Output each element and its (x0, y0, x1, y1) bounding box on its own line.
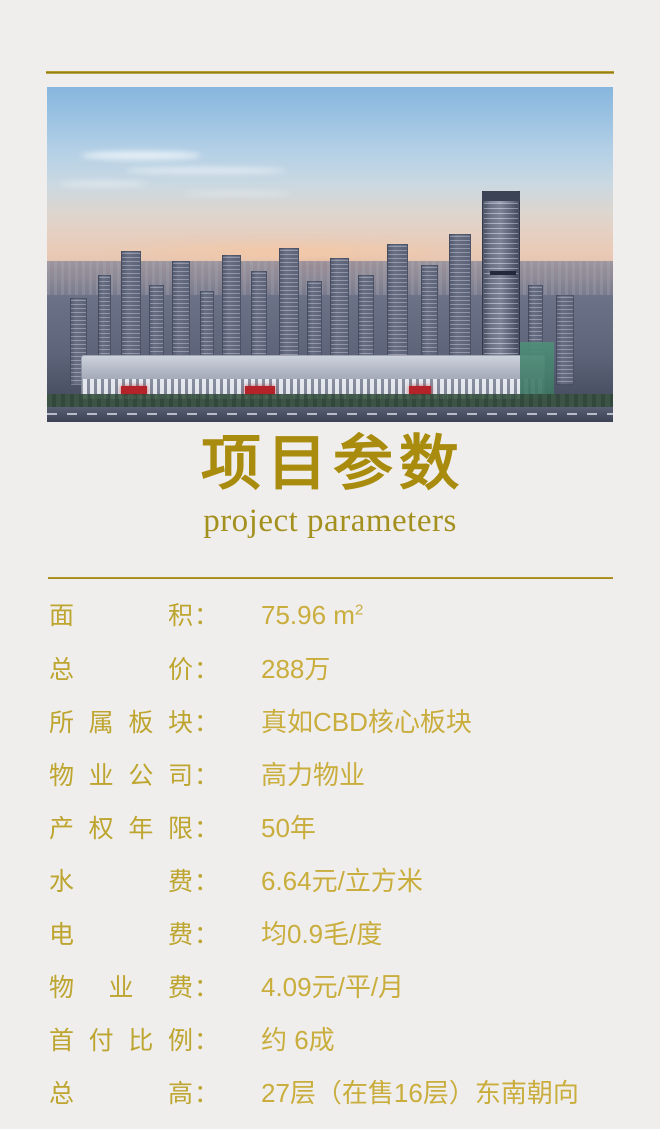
parameter-value: 75.96 m2 (261, 600, 660, 631)
parameter-row: 物业公司：高力物业 (0, 755, 660, 808)
label-char: 积 (168, 596, 193, 632)
parameter-label: 水费： (49, 862, 261, 898)
label-char: 价 (168, 650, 193, 686)
label-char: 费 (168, 968, 193, 1004)
parameter-label-colon: ： (194, 868, 219, 896)
parameter-label: 物业费： (49, 968, 261, 1004)
city-skyline-photo (47, 87, 613, 422)
label-char: 公 (128, 756, 153, 792)
parameter-value-superscript: 2 (355, 601, 363, 618)
parameter-label: 首付比例： (49, 1021, 261, 1057)
parameter-row: 所属板块：真如CBD核心板块 (0, 702, 660, 755)
label-char: 总 (49, 650, 74, 686)
parameter-label-colon: ： (194, 921, 219, 949)
top-divider-rule (46, 71, 614, 74)
label-char: 属 (89, 703, 114, 739)
label-char: 费 (168, 915, 193, 951)
section-divider-rule (48, 577, 613, 579)
parameter-row: 总价：288万 (0, 649, 660, 702)
cloud-streak (81, 151, 201, 160)
parameter-label-colon: ： (194, 602, 219, 630)
foreground-road (47, 407, 613, 422)
parameter-label-chars: 总高 (49, 1074, 193, 1110)
parameter-value: 4.09元/平/月 (261, 967, 660, 1004)
cloud-streak (58, 181, 148, 187)
label-char: 板 (128, 703, 153, 739)
parameter-label-colon: ： (194, 1080, 219, 1108)
parameter-label: 总价： (49, 650, 261, 686)
label-char: 权 (89, 809, 114, 845)
label-char: 费 (168, 862, 193, 898)
parameter-label-chars: 产权年限 (49, 809, 193, 845)
parameter-label-chars: 总价 (49, 650, 193, 686)
page-title-block: 项目参数 project parameters (47, 432, 613, 542)
parameter-label-colon: ： (194, 974, 219, 1002)
label-char: 物 (49, 968, 74, 1004)
street-treeline (47, 394, 613, 407)
parameter-label-chars: 电费 (49, 915, 193, 951)
parameter-value: 6.64元/立方米 (261, 861, 660, 898)
label-char: 业 (89, 756, 114, 792)
landmark-tower-band (490, 271, 516, 275)
label-char: 高 (168, 1074, 193, 1110)
parameter-row: 产权年限：50年 (0, 808, 660, 861)
parameter-value: 288万 (261, 649, 660, 686)
label-char: 司 (168, 756, 193, 792)
parameter-value: 高力物业 (261, 755, 660, 792)
mall-podium (81, 355, 545, 399)
parameter-label-colon: ： (194, 762, 219, 790)
parameter-label-chars: 首付比例 (49, 1021, 193, 1057)
parameter-label: 总高： (49, 1074, 261, 1110)
parameter-row: 电费：均0.9毛/度 (0, 914, 660, 967)
label-char: 业 (108, 968, 133, 1004)
parameter-label-chars: 面积 (49, 596, 193, 632)
parameter-label-colon: ： (194, 709, 219, 737)
label-char: 例 (168, 1021, 193, 1057)
building-tower (556, 295, 574, 385)
parameter-value: 50年 (261, 808, 660, 845)
parameter-label-chars: 物业费 (49, 968, 193, 1004)
parameter-row: 面积：75.96 m2 (0, 596, 660, 649)
page-title: 项目参数 (47, 432, 613, 497)
parameter-value: 27层（在售16层）东南朝向 (261, 1073, 660, 1110)
label-char: 年 (128, 809, 153, 845)
label-char: 限 (168, 809, 193, 845)
parameter-row: 物业费：4.09元/平/月 (0, 967, 660, 1020)
parameter-row: 首付比例：约 6成 (0, 1020, 660, 1073)
label-char: 比 (128, 1021, 153, 1057)
parameter-label-chars: 水费 (49, 862, 193, 898)
parameter-label-chars: 物业公司 (49, 756, 193, 792)
cloud-streak (183, 191, 293, 196)
parameter-value: 真如CBD核心板块 (261, 702, 660, 739)
parameter-label-colon: ： (194, 815, 219, 843)
parameter-label: 所属板块： (49, 703, 261, 739)
parameter-label: 面积： (49, 596, 261, 632)
parameter-row: 水费：6.64元/立方米 (0, 861, 660, 914)
label-char: 电 (49, 915, 74, 951)
parameter-row: 总高：27层（在售16层）东南朝向 (0, 1073, 660, 1126)
label-char: 所 (49, 703, 74, 739)
parameter-label-chars: 所属板块 (49, 703, 193, 739)
label-char: 首 (49, 1021, 74, 1057)
label-char: 物 (49, 756, 74, 792)
page-subtitle: project parameters (47, 501, 613, 542)
label-char: 水 (49, 862, 74, 898)
label-char: 总 (49, 1074, 74, 1110)
parameter-label: 产权年限： (49, 809, 261, 845)
parameter-label: 电费： (49, 915, 261, 951)
parameter-list: 面积：75.96 m2总价：288万所属板块：真如CBD核心板块物业公司：高力物… (0, 596, 660, 1126)
parameter-value: 均0.9毛/度 (261, 914, 660, 951)
green-glass-building (520, 342, 554, 399)
poster-page: 项目参数 project parameters 面积：75.96 m2总价：28… (0, 0, 660, 1129)
parameter-label-colon: ： (194, 656, 219, 684)
photo-canvas (47, 87, 613, 422)
label-char: 付 (89, 1021, 114, 1057)
label-char: 面 (49, 596, 74, 632)
parameter-value: 约 6成 (261, 1020, 660, 1057)
parameter-label: 物业公司： (49, 756, 261, 792)
label-char: 产 (49, 809, 74, 845)
label-char: 块 (168, 703, 193, 739)
parameter-label-colon: ： (194, 1027, 219, 1055)
